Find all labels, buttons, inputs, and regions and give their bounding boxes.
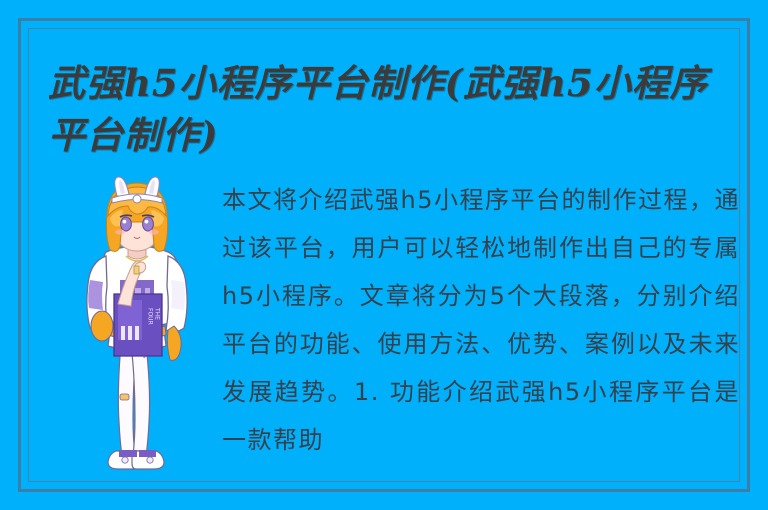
left-sleeve-stripe	[88, 280, 103, 310]
right-blush	[149, 229, 159, 234]
right-sleeve-stripe	[171, 280, 185, 310]
character-illustration: FOUR THE	[76, 176, 198, 476]
poster-canvas: 武强h5小程序平台制作(武强h5小程序平台制作)	[0, 0, 768, 510]
knee-bandaid	[120, 394, 129, 400]
orange-mitten	[91, 311, 113, 341]
left-blush	[115, 229, 125, 234]
necklace-pendant	[134, 266, 139, 274]
right-shoe-cuff	[139, 450, 156, 457]
bag-stripes	[121, 326, 139, 340]
left-eye-glint	[123, 220, 127, 224]
body-paragraph: 本文将介绍武强h5小程序平台的制作过程，通过该平台，用户可以轻松地制作出自己的专…	[222, 176, 740, 464]
anime-girl-icon: FOUR THE	[76, 176, 198, 476]
headband-bow	[133, 195, 141, 203]
page-title: 武强h5小程序平台制作(武强h5小程序平台制作)	[48, 57, 738, 161]
left-shoe-emblem	[122, 457, 128, 463]
right-shoe-emblem	[147, 457, 153, 463]
bag-text: FOUR	[147, 308, 154, 325]
right-eye-glint	[145, 220, 149, 224]
right-eye	[143, 217, 154, 231]
bag-text-2: THE	[154, 307, 161, 320]
left-eye	[121, 217, 132, 231]
left-shoe-cuff	[119, 450, 137, 457]
